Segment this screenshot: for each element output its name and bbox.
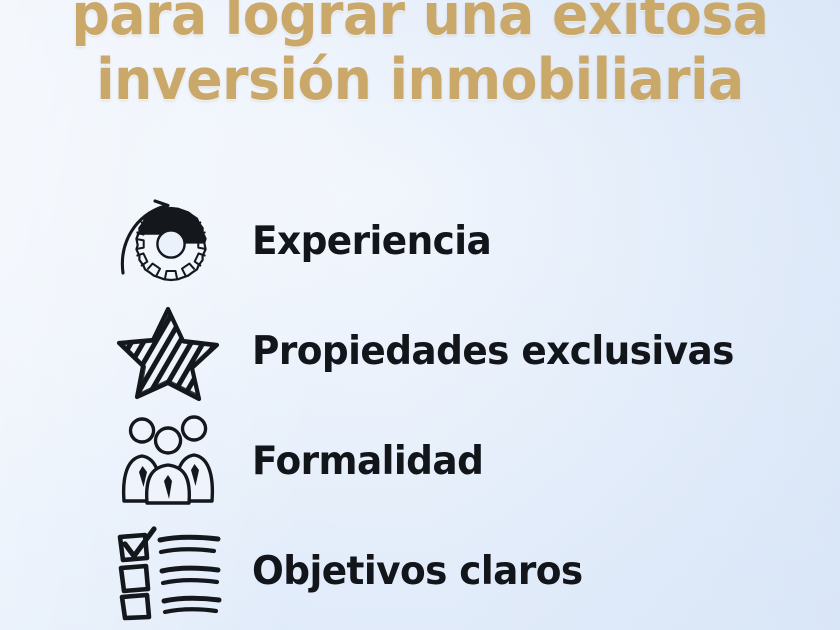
feature-row: Objetivos claros	[0, 516, 840, 626]
heading-line-1: para lograr una exitosa	[25, 0, 815, 43]
people-group-icon	[112, 411, 224, 511]
feature-label-experiencia: Experiencia	[252, 219, 491, 264]
feature-row: Experiencia	[0, 186, 840, 296]
poster-heading: para lograr una exitosa inversión inmobi…	[0, 0, 840, 107]
feature-row: Propiedades exclusivas	[0, 296, 840, 406]
heading-line-2: inversión inmobiliaria	[25, 53, 815, 108]
poster-canvas: para lograr una exitosa inversión inmobi…	[0, 0, 840, 630]
feature-label-propiedades-exclusivas: Propiedades exclusivas	[252, 329, 734, 374]
feature-label-formalidad: Formalidad	[252, 439, 483, 484]
star-icon	[112, 301, 224, 401]
feature-label-objetivos-claros: Objetivos claros	[252, 549, 583, 594]
checklist-icon	[112, 523, 224, 623]
gear-icon	[112, 193, 224, 293]
feature-row: Formalidad	[0, 406, 840, 516]
feature-list: Experiencia	[0, 186, 840, 626]
